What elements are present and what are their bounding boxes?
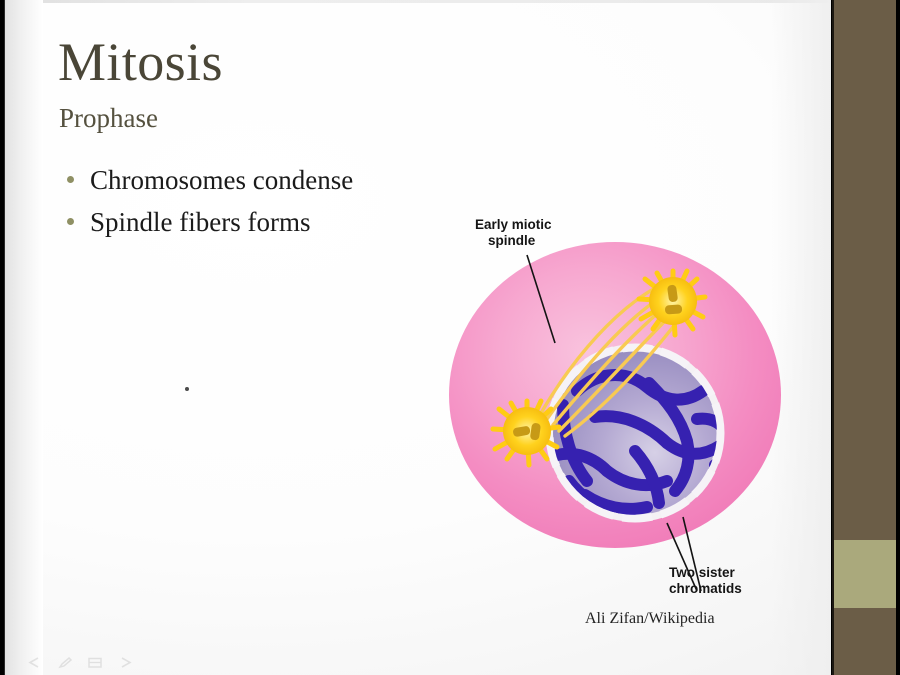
slide-theme-sidebar [832,0,896,675]
bullet-list: Chromosomes condense Spindle fibers form… [67,160,497,244]
image-credit: Ali Zifan/Wikipedia [585,610,715,628]
chromatids-label-line1: Two sister [669,565,736,580]
bullet-text: Chromosomes condense [90,160,353,202]
left-arrow-icon[interactable] [27,656,44,669]
spindle-label-line1: Early miotic [475,217,552,232]
presentation-controls[interactable] [27,656,134,669]
presentation-slide: Mitosis Prophase Chromosomes condense Sp… [0,0,900,675]
right-arrow-icon[interactable] [117,656,134,669]
canvas-left-shade [5,0,43,675]
chromatids-label-line2: chromatids [669,581,742,596]
slide-title: Mitosis [58,34,223,91]
stray-cursor-dot [185,387,189,391]
slide-menu-icon[interactable] [87,656,104,669]
canvas-top-edge [5,0,831,3]
bullet-text: Spindle fibers forms [90,202,310,244]
sidebar-accent-block [834,540,898,608]
bullet-item: Chromosomes condense [67,160,497,202]
spindle-label-line2: spindle [488,233,536,248]
pen-icon[interactable] [57,656,74,669]
bullet-item: Spindle fibers forms [67,202,497,244]
bullet-dot-icon [67,218,74,225]
cell-illustration-svg: Early miotic spindle Two sister chromati… [435,205,805,645]
prophase-cell-diagram: Early miotic spindle Two sister chromati… [435,205,805,645]
bullet-dot-icon [67,176,74,183]
slide-subtitle: Prophase [59,104,158,134]
slide-canvas: Mitosis Prophase Chromosomes condense Sp… [4,0,831,675]
screen-right-edge [896,0,900,675]
